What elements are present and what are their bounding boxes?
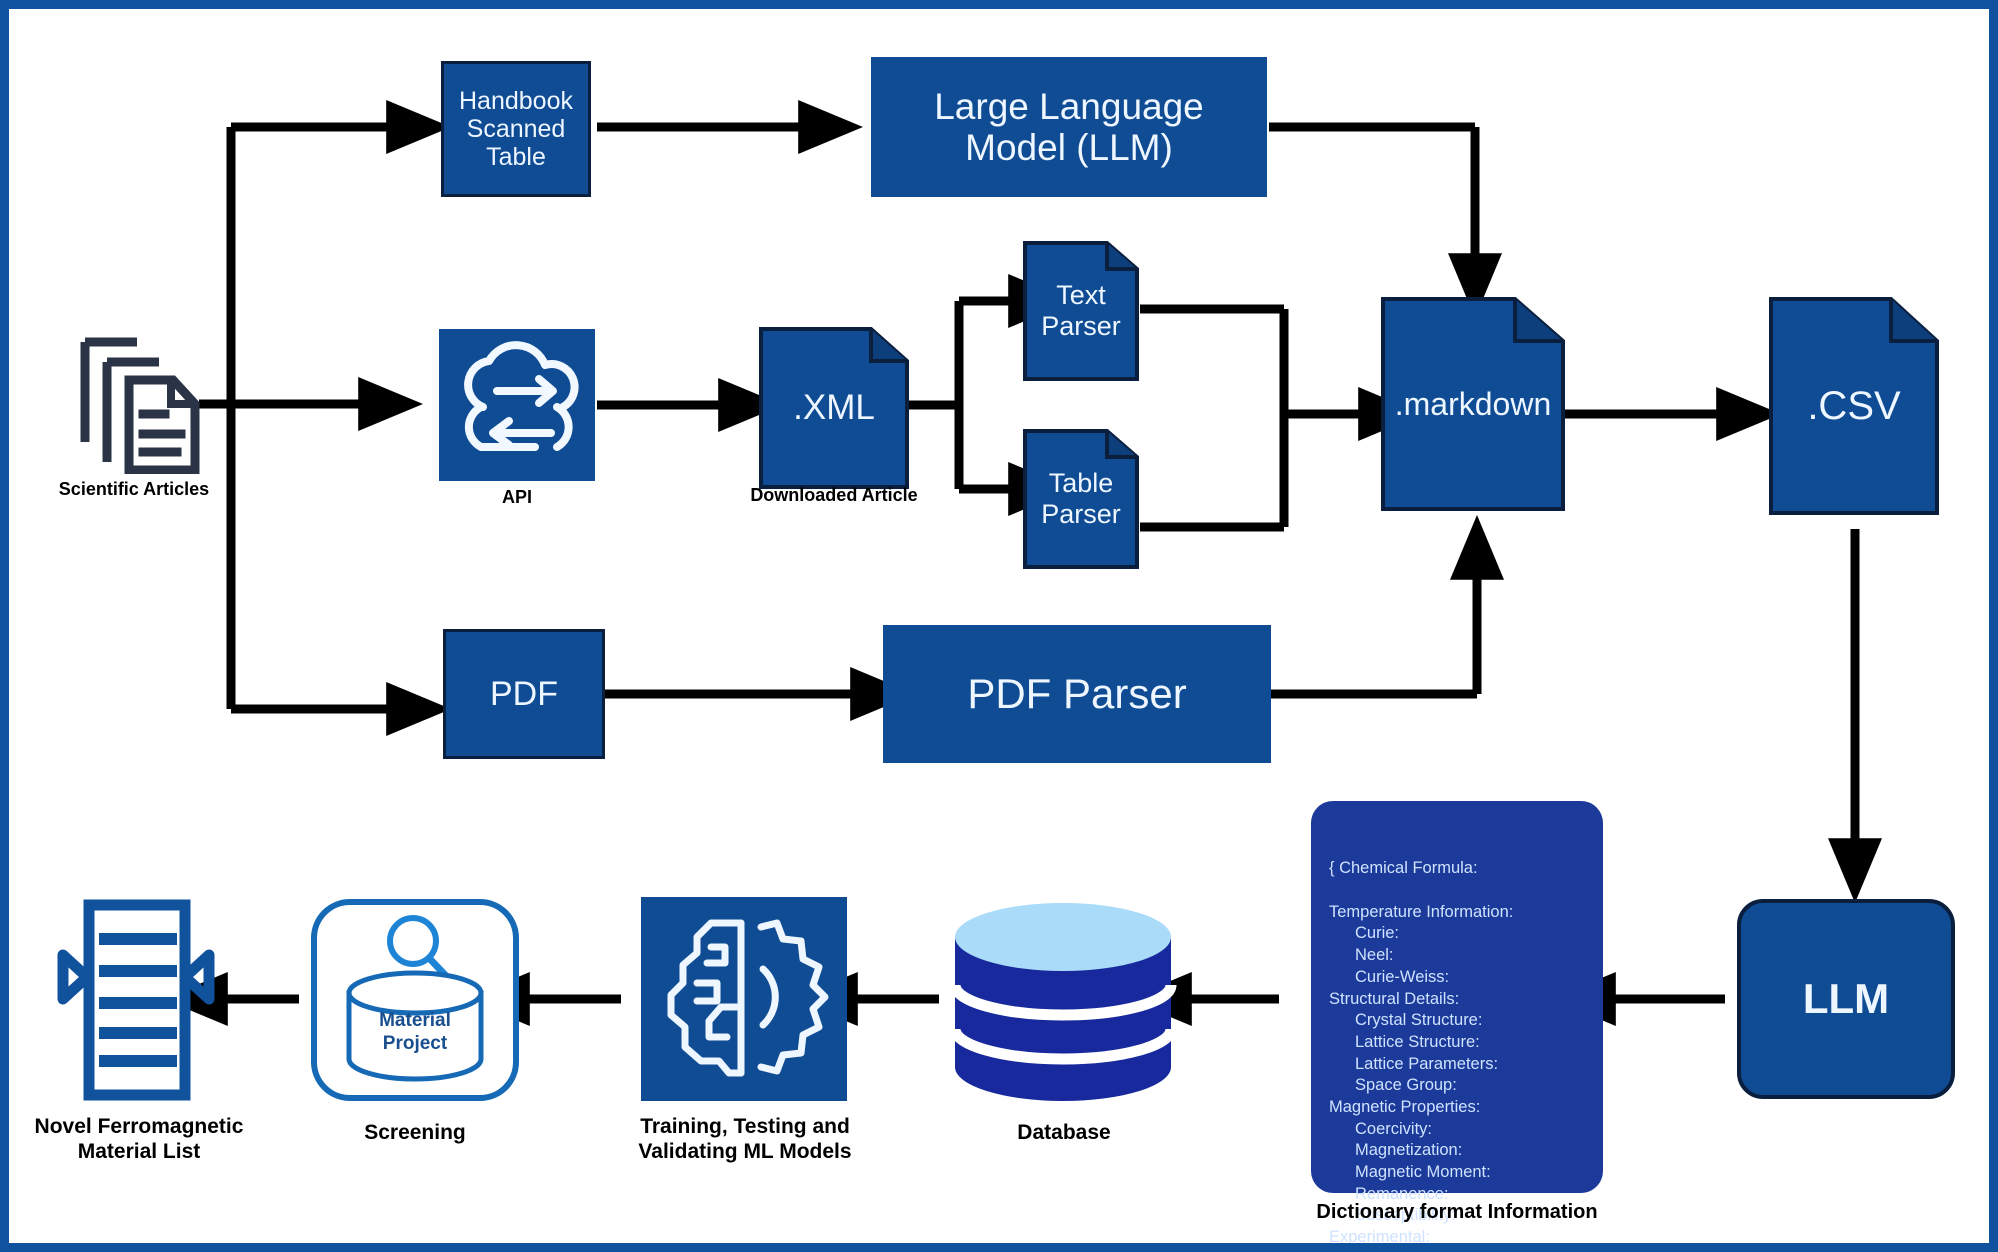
dictionary-format-box: { Chemical Formula: Temperature Informat…: [1311, 801, 1603, 1193]
dictionary-format-label: Dictionary format Information: [1257, 1201, 1657, 1225]
downloaded-article-label: Downloaded Article: [709, 485, 959, 506]
csv-file-node[interactable]: .CSV: [1769, 297, 1939, 515]
dictionary-line: { Chemical Formula:: [1329, 858, 1603, 880]
csv-label: .CSV: [1769, 297, 1939, 515]
database-cylinder-icon[interactable]: [945, 897, 1181, 1107]
xml-file-node[interactable]: .XML: [759, 327, 909, 489]
dictionary-line: Curie-Weiss:: [1329, 967, 1603, 989]
dictionary-line: Neel:: [1329, 945, 1603, 967]
workflow-diagram: Scientific Articles Handbook Scanned Tab…: [0, 0, 1998, 1252]
dictionary-line: Magnetization:: [1329, 1140, 1603, 1162]
pdf-node[interactable]: PDF: [443, 629, 605, 759]
dictionary-line: Experimental:: [1329, 1227, 1603, 1249]
dictionary-line: Crystal Structure:: [1329, 1010, 1603, 1032]
screening-label: Screening: [309, 1121, 521, 1146]
text-parser-label: Text Parser: [1023, 241, 1139, 381]
database-label: Database: [939, 1121, 1189, 1146]
material-project-label: Material Project: [309, 1009, 521, 1055]
dictionary-line: Magnetic Moment:: [1329, 1162, 1603, 1184]
handbook-scanned-table-node[interactable]: Handbook Scanned Table: [441, 61, 591, 197]
document-list-icon[interactable]: [53, 897, 219, 1103]
api-node[interactable]: [439, 329, 595, 481]
dictionary-line: Temperature Information:: [1329, 902, 1603, 924]
dictionary-line: Magnetic Properties:: [1329, 1097, 1603, 1119]
large-language-model-node[interactable]: Large Language Model (LLM): [871, 57, 1267, 197]
magnifier-database-icon: [309, 897, 521, 1103]
ml-models-node[interactable]: [641, 897, 847, 1101]
dictionary-line: Space Group:: [1329, 1075, 1603, 1097]
novel-list-label: Novel Ferromagnetic Material List: [19, 1115, 259, 1165]
scientific-articles-label: Scientific Articles: [19, 479, 249, 500]
table-parser-node[interactable]: Table Parser: [1023, 429, 1139, 569]
dictionary-line: Curie:: [1329, 923, 1603, 945]
api-label: API: [439, 487, 595, 508]
text-parser-node[interactable]: Text Parser: [1023, 241, 1139, 381]
dictionary-line: [1329, 880, 1603, 902]
markdown-file-node[interactable]: .markdown: [1381, 297, 1565, 511]
xml-label: .XML: [759, 327, 909, 489]
dictionary-line: Lattice Structure:: [1329, 1032, 1603, 1054]
ml-models-label: Training, Testing and Validating ML Mode…: [595, 1115, 895, 1165]
pdf-parser-node[interactable]: PDF Parser: [883, 625, 1271, 763]
llm-bottom-node[interactable]: LLM: [1737, 899, 1955, 1099]
table-parser-label: Table Parser: [1023, 429, 1139, 569]
stacked-documents-icon: [67, 324, 201, 474]
dictionary-line: Structural Details:: [1329, 989, 1603, 1011]
brain-gear-icon: [641, 897, 847, 1101]
cloud-sync-icon: [439, 329, 595, 481]
screening-node[interactable]: Material Project: [309, 897, 521, 1103]
dictionary-line: Lattice Parameters:: [1329, 1054, 1603, 1076]
markdown-label: .markdown: [1381, 297, 1565, 511]
dictionary-line: Coercivity:: [1329, 1119, 1603, 1141]
